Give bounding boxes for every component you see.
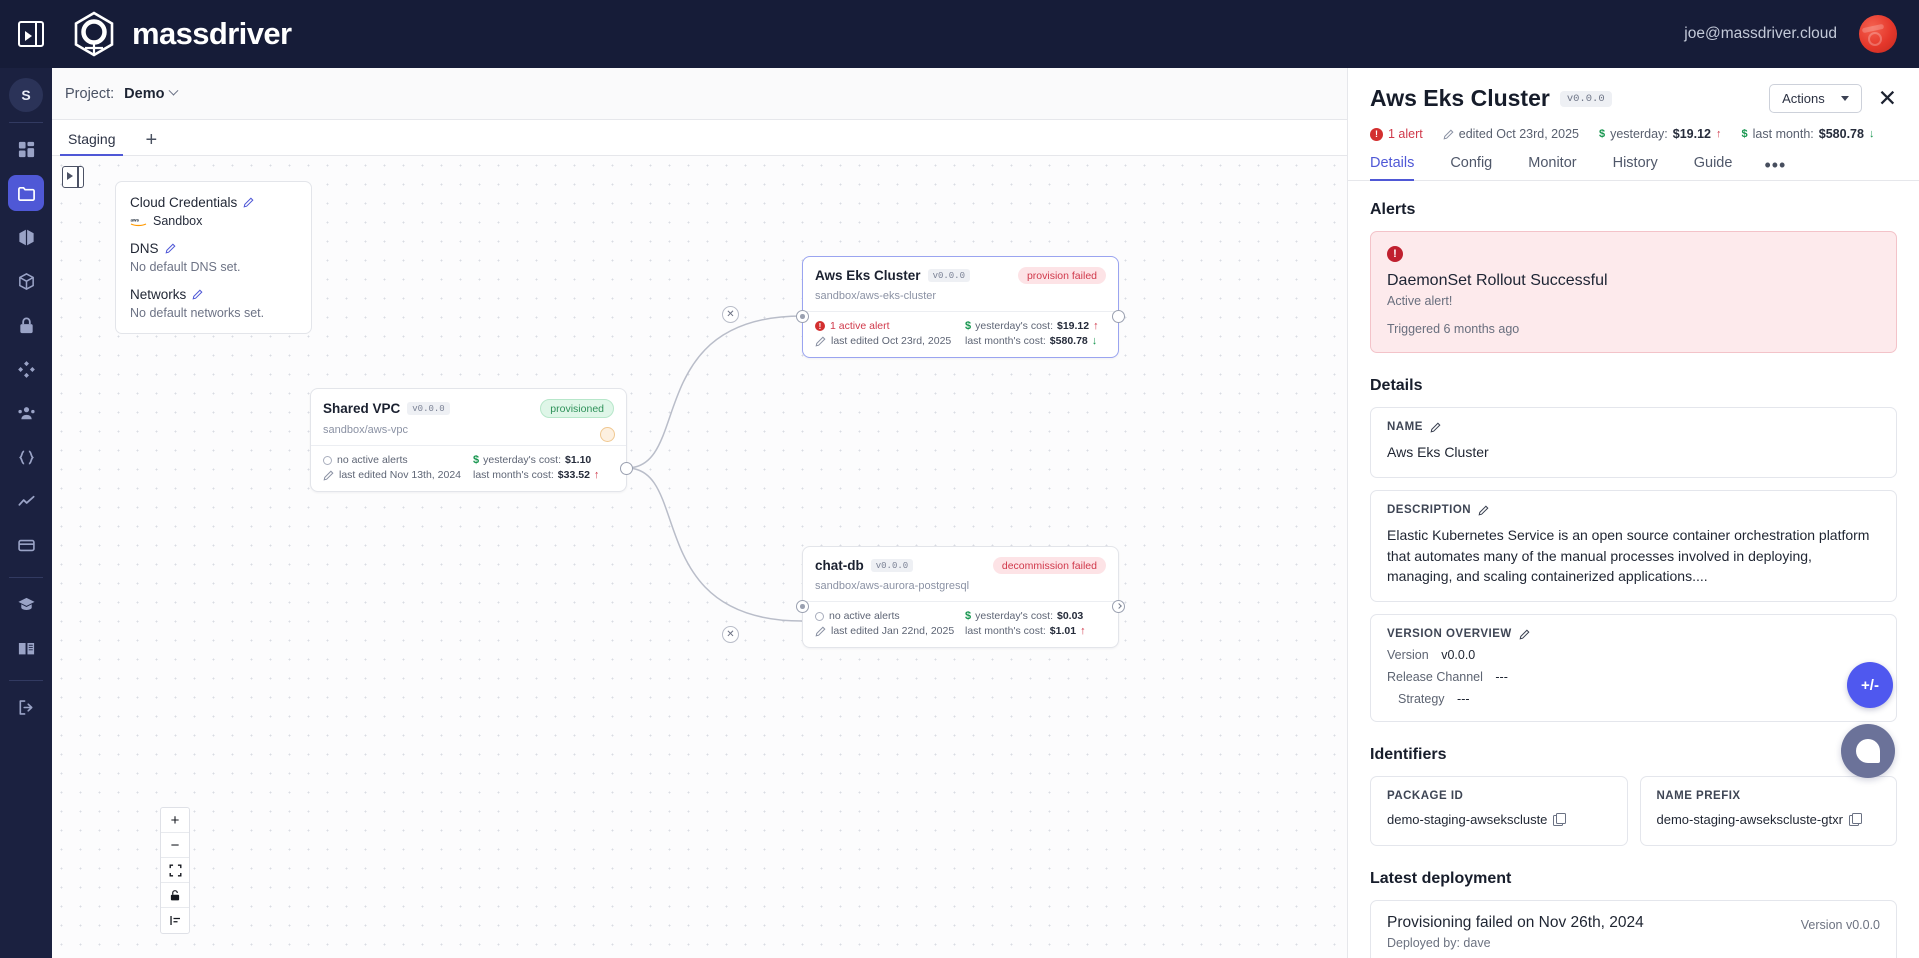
users-icon (17, 404, 36, 423)
dollar-icon: $ (1742, 128, 1748, 140)
chevron-down-icon (1841, 96, 1849, 101)
info-block-cloud-credentials: Cloud Credentials aws Sandbox (130, 195, 297, 228)
node-title: Aws Eks Cluster (815, 268, 921, 283)
copy-icon[interactable] (1553, 813, 1564, 825)
arrow-down-icon: ↓ (1092, 335, 1098, 347)
details-heading: Details (1370, 377, 1897, 395)
graph-node-shared-vpc[interactable]: Shared VPC v0.0.0 provisioned sandbox/aw… (310, 388, 627, 492)
node-input-port[interactable] (796, 310, 809, 323)
tab-staging[interactable]: Staging (52, 131, 131, 155)
node-version-badge: v0.0.0 (928, 269, 970, 282)
node-footer: ! 1 active alert $ yesterday's cost: $19… (803, 312, 1118, 357)
identifiers-grid: PACKAGE ID demo-staging-awsekscluste NAM… (1370, 776, 1897, 846)
meta-cost-yesterday: $ yesterday: $19.12 ↑ (1599, 127, 1722, 141)
lock-canvas-button[interactable] (161, 883, 189, 908)
node-output-port[interactable] (1112, 310, 1125, 323)
close-icon[interactable]: ✕ (1878, 87, 1897, 110)
node-title: chat-db (815, 558, 864, 573)
panel-meta-row: ! 1 alert edited Oct 23rd, 2025 $ yester… (1370, 127, 1897, 141)
cost-month-value: $580.78 (1050, 335, 1088, 347)
lock-icon (169, 889, 181, 902)
lock-icon (17, 316, 36, 335)
node-alert: no active alerts (815, 610, 965, 622)
top-bar: massdriver joe@massdriver.cloud (0, 0, 1919, 68)
align-left-icon (169, 914, 182, 927)
cost-month-value: $1.01 (1050, 625, 1076, 637)
sidebar-item-team[interactable] (8, 395, 44, 431)
cost-month-label: last month's cost: (965, 625, 1046, 637)
alert-icon: ! (1370, 128, 1383, 141)
node-header: Aws Eks Cluster v0.0.0 provision failed … (803, 257, 1118, 311)
release-channel-value: --- (1495, 670, 1508, 684)
zoom-in-button[interactable]: + (161, 808, 189, 833)
meta-alert-text: 1 alert (1388, 127, 1423, 141)
dollar-icon: $ (965, 320, 971, 332)
tab-details[interactable]: Details (1370, 155, 1432, 180)
info-block-dns: DNS No default DNS set. (130, 241, 297, 274)
no-alert-icon (323, 456, 332, 465)
node-title-row: chat-db v0.0.0 decommission failed (815, 557, 1106, 574)
node-alert-row: no active alerts $ yesterday's cost: $0.… (815, 610, 1106, 622)
project-label: Project: (65, 86, 114, 102)
cloud-credential-badge-icon (600, 427, 615, 442)
node-alert-text: no active alerts (337, 454, 408, 466)
canvas-controls: + − (160, 807, 190, 934)
name-label: NAME (1387, 421, 1423, 433)
node-edited-row: last edited Jan 22nd, 2025 last month's … (815, 625, 1106, 637)
cloud-credentials-value: Sandbox (153, 214, 202, 228)
pencil-icon (815, 626, 826, 637)
description-card: DESCRIPTION Elastic Kubernetes Service i… (1370, 490, 1897, 602)
node-header: chat-db v0.0.0 decommission failed sandb… (803, 547, 1118, 601)
activity-line-icon (17, 492, 36, 511)
massdriver-logo-icon (70, 10, 118, 58)
sidebar-item-api[interactable] (8, 439, 44, 475)
node-cost-month: last month's cost: $33.52 ↑ (473, 469, 599, 481)
deployment-version: Version v0.0.0 (1801, 914, 1880, 932)
node-header: Shared VPC v0.0.0 provisioned sandbox/aw… (311, 389, 626, 445)
logout-icon (17, 698, 36, 717)
tab-config[interactable]: Config (1432, 155, 1510, 180)
chat-support-button[interactable] (1841, 724, 1895, 778)
chevron-right-icon (1116, 603, 1122, 609)
tabs-overflow-button[interactable]: ••• (1750, 160, 1800, 180)
latest-deployment-heading: Latest deployment (1370, 870, 1897, 888)
cost-yesterday-label: yesterday's cost: (483, 454, 561, 466)
cost-month-value: $33.52 (558, 469, 590, 481)
meta-edited: edited Oct 23rd, 2025 (1443, 127, 1579, 141)
node-status-badge: provision failed (1018, 267, 1106, 284)
node-slug: sandbox/aws-vpc (323, 424, 614, 436)
meta-month-value: $580.78 (1819, 127, 1864, 141)
node-edited: last edited Nov 13th, 2024 (323, 469, 473, 481)
dashboard-icon (17, 140, 36, 159)
environment-info-card: Cloud Credentials aws Sandbox DNS No (115, 181, 312, 334)
release-channel-key: Release Channel (1387, 670, 1483, 684)
description-label-row: DESCRIPTION (1387, 504, 1880, 516)
no-alert-icon (815, 612, 824, 621)
graduation-cap-icon (17, 595, 36, 614)
description-label: DESCRIPTION (1387, 504, 1471, 516)
pencil-icon[interactable] (165, 243, 176, 254)
arrow-up-icon: ↑ (594, 469, 600, 481)
detail-panel: Aws Eks Cluster v0.0.0 Actions ✕ ! 1 ale… (1347, 68, 1919, 958)
meta-yesterday-value: $19.12 (1673, 127, 1711, 141)
cube-icon (17, 272, 36, 291)
user-email[interactable]: joe@massdriver.cloud (1684, 25, 1837, 43)
version-row: Version v0.0.0 (1387, 648, 1880, 662)
zoom-out-button[interactable]: − (161, 833, 189, 858)
sidebar-item-bundles[interactable] (8, 263, 44, 299)
panel-version-badge: v0.0.0 (1560, 91, 1612, 107)
node-slug: sandbox/aws-aurora-postgresql (815, 580, 1106, 592)
cost-yesterday-label: yesterday's cost: (975, 610, 1053, 622)
sidebar-item-connections[interactable] (8, 351, 44, 387)
deployment-title: Provisioning failed on Nov 26th, 2024 (1387, 914, 1644, 932)
node-footer: no active alerts $ yesterday's cost: $1.… (311, 446, 626, 491)
node-alert: ! 1 active alert (815, 320, 965, 332)
meta-cost-month: $ last month: $580.78 ↓ (1742, 127, 1875, 141)
pencil-icon[interactable] (192, 289, 203, 300)
port-dot-icon (800, 604, 805, 609)
cost-yesterday-value: $19.12 (1057, 320, 1089, 332)
node-edited-row: last edited Oct 23rd, 2025 last month's … (815, 335, 1106, 347)
page-title: Aws Eks Cluster (1370, 85, 1550, 112)
name-prefix-label: NAME PREFIX (1657, 790, 1881, 802)
fit-view-button[interactable] (161, 858, 189, 883)
svg-text:aws: aws (131, 217, 140, 222)
package-id-label: PACKAGE ID (1387, 790, 1611, 802)
tab-history[interactable]: History (1595, 155, 1676, 180)
top-bar-right: joe@massdriver.cloud (1684, 15, 1919, 53)
dollar-icon: $ (1599, 128, 1605, 140)
nodes-icon (17, 360, 36, 379)
tab-guide[interactable]: Guide (1676, 155, 1751, 180)
identifiers-heading: Identifiers (1370, 746, 1897, 764)
node-alert-text: 1 active alert (830, 320, 890, 332)
node-cost-month: last month's cost: $1.01 ↑ (965, 625, 1086, 637)
meta-alert[interactable]: ! 1 alert (1370, 127, 1423, 141)
version-overview-label: VERSION OVERVIEW (1387, 628, 1512, 640)
node-edited-text: last edited Oct 23rd, 2025 (831, 335, 951, 347)
deployment-subtitle: Deployed by: dave (1387, 936, 1644, 950)
panel-collapse-icon (18, 21, 44, 47)
info-title: DNS (130, 241, 297, 256)
node-edited: last edited Jan 22nd, 2025 (815, 625, 965, 637)
version-overview-card: VERSION OVERVIEW Version v0.0.0 Release … (1370, 614, 1897, 722)
diff-toggle-button[interactable]: +/- (1847, 662, 1893, 708)
meta-yesterday-label: yesterday: (1610, 127, 1668, 141)
credit-card-icon (17, 536, 36, 555)
sidebar-item-packages[interactable] (8, 219, 44, 255)
name-label-row: NAME (1387, 421, 1880, 433)
cloud-credentials-label: Cloud Credentials (130, 195, 237, 210)
node-cost-yesterday: $ yesterday's cost: $19.12 ↑ (965, 320, 1099, 332)
node-alert-row: ! 1 active alert $ yesterday's cost: $19… (815, 320, 1106, 332)
name-value: Aws Eks Cluster (1387, 442, 1880, 462)
node-alert-text: no active alerts (829, 610, 900, 622)
pencil-icon[interactable] (1430, 422, 1441, 433)
book-icon (17, 639, 36, 658)
port-dot-icon (800, 314, 805, 319)
add-environment-button[interactable]: + (131, 130, 171, 155)
package-id-value: demo-staging-awsekscluste (1387, 812, 1547, 827)
node-alert: no active alerts (323, 454, 473, 466)
sidebar-item-logout[interactable] (8, 689, 44, 725)
sidebar-item-billing[interactable] (8, 527, 44, 563)
edge-delete-button[interactable]: ✕ (722, 626, 739, 643)
org-avatar[interactable]: S (9, 78, 43, 112)
braces-icon (17, 448, 36, 467)
alert-triggered: Triggered 6 months ago (1387, 322, 1880, 336)
node-footer: no active alerts $ yesterday's cost: $0.… (803, 602, 1118, 647)
alerts-heading: Alerts (1370, 201, 1897, 219)
arrow-up-icon: ↑ (1716, 128, 1722, 140)
node-title: Shared VPC (323, 401, 400, 416)
node-title-row: Shared VPC v0.0.0 provisioned (323, 399, 614, 418)
detail-panel-header: Aws Eks Cluster v0.0.0 Actions ✕ ! 1 ale… (1348, 68, 1919, 141)
alert-title: DaemonSet Rollout Successful (1387, 272, 1880, 290)
cost-month-label: last month's cost: (473, 469, 554, 481)
detail-panel-tabs: Details Config Monitor History Guide ••• (1348, 155, 1919, 181)
pencil-icon (815, 336, 826, 347)
package-id-value-row: demo-staging-awsekscluste (1387, 811, 1611, 830)
name-prefix-value-row: demo-staging-awsekscluste-gtxr (1657, 811, 1881, 830)
name-prefix-value: demo-staging-awsekscluste-gtxr (1657, 812, 1843, 827)
actions-label: Actions (1782, 91, 1825, 106)
info-title: Networks (130, 287, 297, 302)
release-channel-row: Release Channel --- (1387, 670, 1880, 684)
rail-divider-logout (9, 680, 43, 681)
arrow-down-icon: ↓ (1869, 128, 1875, 140)
strategy-key: Strategy (1398, 692, 1445, 706)
info-title: Cloud Credentials (130, 195, 297, 210)
version-overview-label-row: VERSION OVERVIEW (1387, 628, 1880, 640)
graph-node-aws-eks-cluster[interactable]: Aws Eks Cluster v0.0.0 provision failed … (802, 256, 1119, 358)
chevron-down-icon[interactable] (169, 86, 179, 96)
node-output-port[interactable] (1112, 600, 1125, 613)
info-block-networks: Networks No default networks set. (130, 287, 297, 320)
version-value: v0.0.0 (1441, 648, 1475, 662)
sidebar-item-secrets[interactable] (8, 307, 44, 343)
node-cost-month: last month's cost: $580.78 ↓ (965, 335, 1097, 347)
node-cost-yesterday: $ yesterday's cost: $1.10 (473, 454, 591, 466)
dns-value: No default DNS set. (130, 260, 297, 274)
panel-title-row: Aws Eks Cluster v0.0.0 Actions ✕ (1370, 84, 1897, 113)
pencil-icon (323, 470, 334, 481)
tab-monitor[interactable]: Monitor (1510, 155, 1594, 180)
actions-button[interactable]: Actions (1769, 84, 1862, 113)
avatar[interactable] (1859, 15, 1897, 53)
package-id-card: PACKAGE ID demo-staging-awsekscluste (1370, 776, 1628, 846)
sidebar-collapse-button[interactable] (0, 0, 62, 68)
detail-panel-body[interactable]: Alerts ! DaemonSet Rollout Successful Ac… (1348, 181, 1919, 958)
edge-delete-button[interactable]: ✕ (722, 306, 739, 323)
pencil-icon[interactable] (1478, 505, 1489, 516)
node-edited-text: last edited Nov 13th, 2024 (339, 469, 461, 481)
node-output-port[interactable] (620, 462, 633, 475)
cloud-credentials-value-row: aws Sandbox (130, 214, 297, 228)
rail-divider-bottom (9, 577, 43, 578)
sidebar-item-dashboard[interactable] (8, 131, 44, 167)
sidebar-item-docs[interactable] (8, 630, 44, 666)
node-edited-text: last edited Jan 22nd, 2025 (831, 625, 954, 637)
folder-icon (17, 184, 36, 203)
node-title-row: Aws Eks Cluster v0.0.0 provision failed (815, 267, 1106, 284)
package-gift-icon (17, 228, 36, 247)
latest-deployment-card[interactable]: Provisioning failed on Nov 26th, 2024 De… (1370, 900, 1897, 958)
alert-card[interactable]: ! DaemonSet Rollout Successful Active al… (1370, 231, 1897, 353)
meta-edited-text: edited Oct 23rd, 2025 (1459, 127, 1579, 141)
arrow-up-icon: ↑ (1080, 625, 1086, 637)
pencil-icon (1443, 129, 1454, 140)
cost-yesterday-value: $1.10 (565, 454, 591, 466)
cost-yesterday-value: $0.03 (1057, 610, 1083, 622)
node-slug: sandbox/aws-eks-cluster (815, 290, 1106, 302)
node-input-port[interactable] (796, 600, 809, 613)
networks-value: No default networks set. (130, 306, 297, 320)
cost-month-label: last month's cost: (965, 335, 1046, 347)
alert-subtitle: Active alert! (1387, 294, 1880, 308)
node-edited-row: last edited Nov 13th, 2024 last month's … (323, 469, 614, 481)
fit-view-icon (169, 864, 182, 877)
dns-label: DNS (130, 241, 159, 256)
node-alert-row: no active alerts $ yesterday's cost: $1.… (323, 454, 614, 466)
alert-icon: ! (815, 321, 825, 331)
description-value: Elastic Kubernetes Service is an open so… (1387, 525, 1880, 586)
alert-icon: ! (1387, 246, 1403, 262)
pencil-icon[interactable] (1519, 629, 1530, 640)
node-edited: last edited Oct 23rd, 2025 (815, 335, 965, 347)
cost-yesterday-label: yesterday's cost: (975, 320, 1053, 332)
project-selector[interactable]: Demo (124, 86, 164, 102)
left-nav-rail: S (0, 68, 52, 958)
version-key: Version (1387, 648, 1429, 662)
dollar-icon: $ (965, 610, 971, 622)
strategy-value: --- (1457, 692, 1470, 706)
copy-icon[interactable] (1849, 813, 1860, 825)
rail-divider-top (9, 122, 43, 123)
chat-bubble-icon (1856, 739, 1880, 763)
node-status-badge: decommission failed (993, 557, 1106, 574)
strategy-row: Strategy --- (1387, 692, 1880, 706)
brand-name: massdriver (132, 16, 291, 52)
sidebar-item-projects[interactable] (8, 175, 44, 211)
sidebar-item-metrics[interactable] (8, 483, 44, 519)
node-version-badge: v0.0.0 (407, 402, 449, 415)
node-cost-yesterday: $ yesterday's cost: $0.03 (965, 610, 1083, 622)
name-prefix-card: NAME PREFIX demo-staging-awsekscluste-gt… (1640, 776, 1898, 846)
graph-node-chat-db[interactable]: chat-db v0.0.0 decommission failed sandb… (802, 546, 1119, 648)
aws-icon: aws (130, 216, 147, 227)
arrow-up-icon: ↑ (1093, 320, 1099, 332)
brand-logo[interactable]: massdriver (70, 10, 291, 58)
panel-expand-icon[interactable] (62, 166, 84, 188)
sidebar-item-learn[interactable] (8, 586, 44, 622)
dollar-icon: $ (473, 454, 479, 466)
node-status-badge: provisioned (540, 399, 614, 418)
name-card: NAME Aws Eks Cluster (1370, 407, 1897, 478)
pencil-icon[interactable] (243, 197, 254, 208)
align-button[interactable] (161, 908, 189, 933)
networks-label: Networks (130, 287, 186, 302)
deployment-text: Provisioning failed on Nov 26th, 2024 De… (1387, 914, 1644, 950)
node-version-badge: v0.0.0 (871, 559, 913, 572)
meta-month-label: last month: (1753, 127, 1814, 141)
